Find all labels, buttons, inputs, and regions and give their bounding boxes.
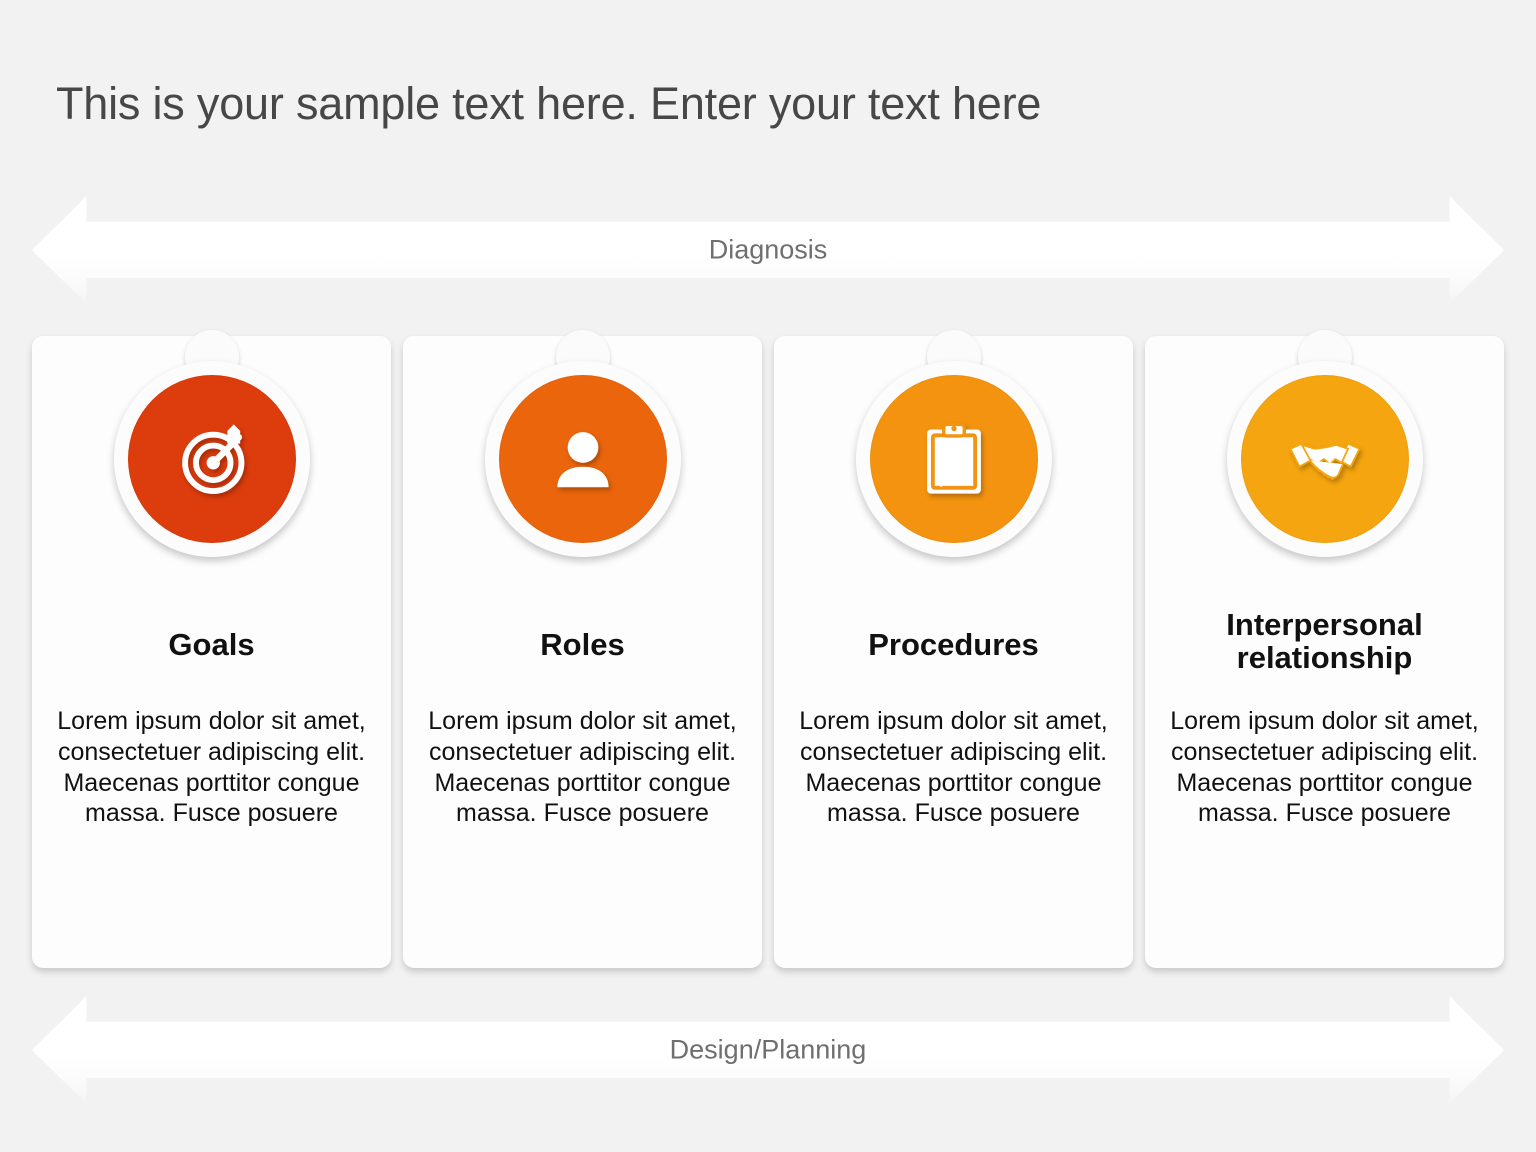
badge-interpersonal-relationship: [1225, 330, 1425, 558]
badge-ring: [856, 361, 1052, 557]
band-diagnosis-label: Diagnosis: [32, 235, 1504, 266]
badge-hanger: [185, 330, 239, 384]
band-diagnosis: Diagnosis: [32, 196, 1504, 304]
band-design-planning-label: Design/Planning: [32, 1035, 1504, 1066]
target-icon: [171, 418, 253, 500]
person-icon: [542, 418, 624, 500]
badge-ring: [114, 361, 310, 557]
card-heading: Interpersonal relationship: [1163, 608, 1486, 675]
badge-goals: [112, 330, 312, 558]
badge-hanger: [927, 330, 981, 384]
badge-disc: [128, 375, 296, 543]
card-row: Goals Lorem ipsum dolor sit amet, consec…: [32, 336, 1504, 968]
badge-disc: [499, 375, 667, 543]
card-goals[interactable]: Goals Lorem ipsum dolor sit amet, consec…: [32, 336, 391, 968]
card-roles[interactable]: Roles Lorem ipsum dolor sit amet, consec…: [403, 336, 762, 968]
card-heading: Procedures: [792, 628, 1115, 661]
badge-ring: [485, 361, 681, 557]
page-title: This is your sample text here. Enter you…: [56, 78, 1041, 130]
slide-canvas: This is your sample text here. Enter you…: [0, 0, 1536, 1152]
clipboard-checklist-icon: [913, 418, 995, 500]
card-heading: Roles: [421, 628, 744, 661]
badge-procedures: [854, 330, 1054, 558]
band-design-planning: Design/Planning: [32, 996, 1504, 1104]
card-body: Lorem ipsum dolor sit amet, consectetuer…: [54, 706, 369, 829]
badge-ring: [1227, 361, 1423, 557]
badge-hanger: [1298, 330, 1352, 384]
card-heading: Goals: [50, 628, 373, 661]
card-procedures[interactable]: Procedures Lorem ipsum dolor sit amet, c…: [774, 336, 1133, 968]
card-interpersonal-relationship[interactable]: Interpersonal relationship Lorem ipsum d…: [1145, 336, 1504, 968]
badge-disc: [870, 375, 1038, 543]
badge-roles: [483, 330, 683, 558]
card-body: Lorem ipsum dolor sit amet, consectetuer…: [1167, 706, 1482, 829]
badge-disc: [1241, 375, 1409, 543]
card-body: Lorem ipsum dolor sit amet, consectetuer…: [425, 706, 740, 829]
card-body: Lorem ipsum dolor sit amet, consectetuer…: [796, 706, 1111, 829]
handshake-icon: [1284, 418, 1366, 500]
badge-hanger: [556, 330, 610, 384]
